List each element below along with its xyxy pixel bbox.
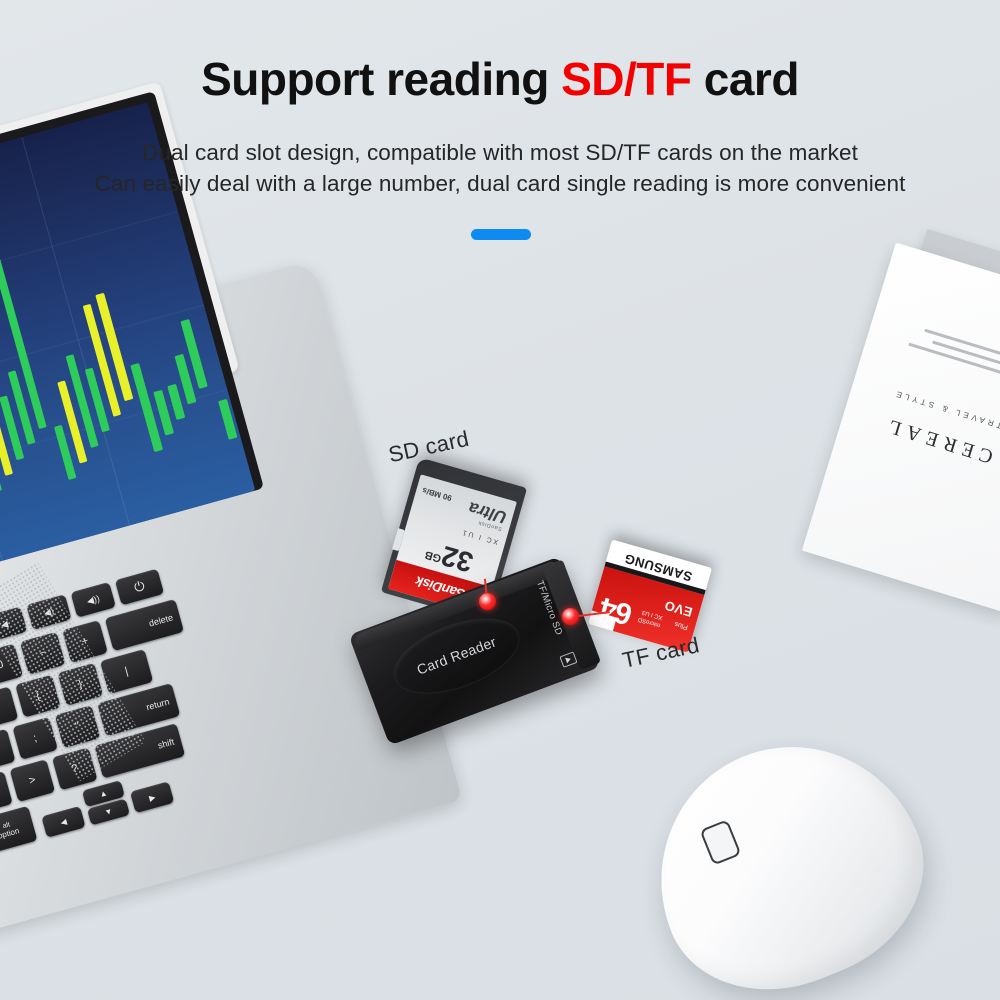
title-part-1: Support reading bbox=[201, 53, 561, 105]
wireless-mouse[interactable] bbox=[621, 707, 955, 1000]
tf-slot-led-icon bbox=[562, 608, 579, 625]
tf-card-icons: microSD XC I U3 bbox=[637, 607, 663, 628]
key-arrow-right[interactable]: ▶ bbox=[130, 781, 174, 813]
key-arrow-left[interactable]: ◀ bbox=[41, 806, 85, 838]
waveform-bar bbox=[218, 399, 237, 440]
title-part-2: card bbox=[691, 53, 798, 105]
key-period[interactable]: > bbox=[9, 759, 55, 802]
magazine-text-lines bbox=[908, 320, 1000, 387]
mouse-body bbox=[621, 707, 955, 1000]
sd-card-speed: 90 MB/s bbox=[421, 486, 453, 503]
sd-card-class-icons: XC I U1 bbox=[460, 528, 499, 545]
title-highlight: SD/TF bbox=[561, 53, 691, 105]
tf-card-capacity: 64 bbox=[597, 592, 635, 629]
sd-card-series: Ultra bbox=[466, 497, 509, 527]
subtitle-line-2: Can easily deal with a large number, dua… bbox=[0, 171, 1000, 197]
key-delete[interactable]: delete bbox=[105, 599, 184, 651]
card-reader-label: Card Reader bbox=[415, 634, 499, 678]
magazine: TRAVEL & STYLE CEREAL bbox=[802, 235, 1000, 619]
sd-slot-led-icon bbox=[479, 593, 496, 610]
subtitle-line-1: Dual card slot design, compatible with m… bbox=[0, 140, 1000, 166]
page-title: Support reading SD/TF card bbox=[0, 55, 1000, 103]
key-volume-up[interactable]: ◀)) bbox=[70, 582, 115, 618]
key-p[interactable]: P bbox=[0, 686, 18, 729]
sd-card-capacity-unit: GB bbox=[424, 548, 443, 564]
product-banner: ▶▶ ◀ ◀) ◀)) ⏻ 9 0 − + delete O P bbox=[0, 0, 1000, 1000]
magazine-front-page: TRAVEL & STYLE CEREAL bbox=[802, 243, 1000, 614]
mouse-scroll-wheel[interactable] bbox=[699, 819, 741, 865]
waveform-bar bbox=[168, 384, 185, 420]
accent-divider bbox=[471, 229, 531, 240]
tf-card-series: EVO bbox=[663, 598, 694, 620]
magazine-title: CEREAL bbox=[830, 397, 1000, 483]
key-option[interactable]: alt option bbox=[0, 806, 38, 855]
key-power[interactable]: ⏻ bbox=[115, 569, 164, 606]
tf-card-series-suffix: Plus bbox=[674, 620, 689, 630]
key-l[interactable]: L bbox=[0, 729, 16, 772]
